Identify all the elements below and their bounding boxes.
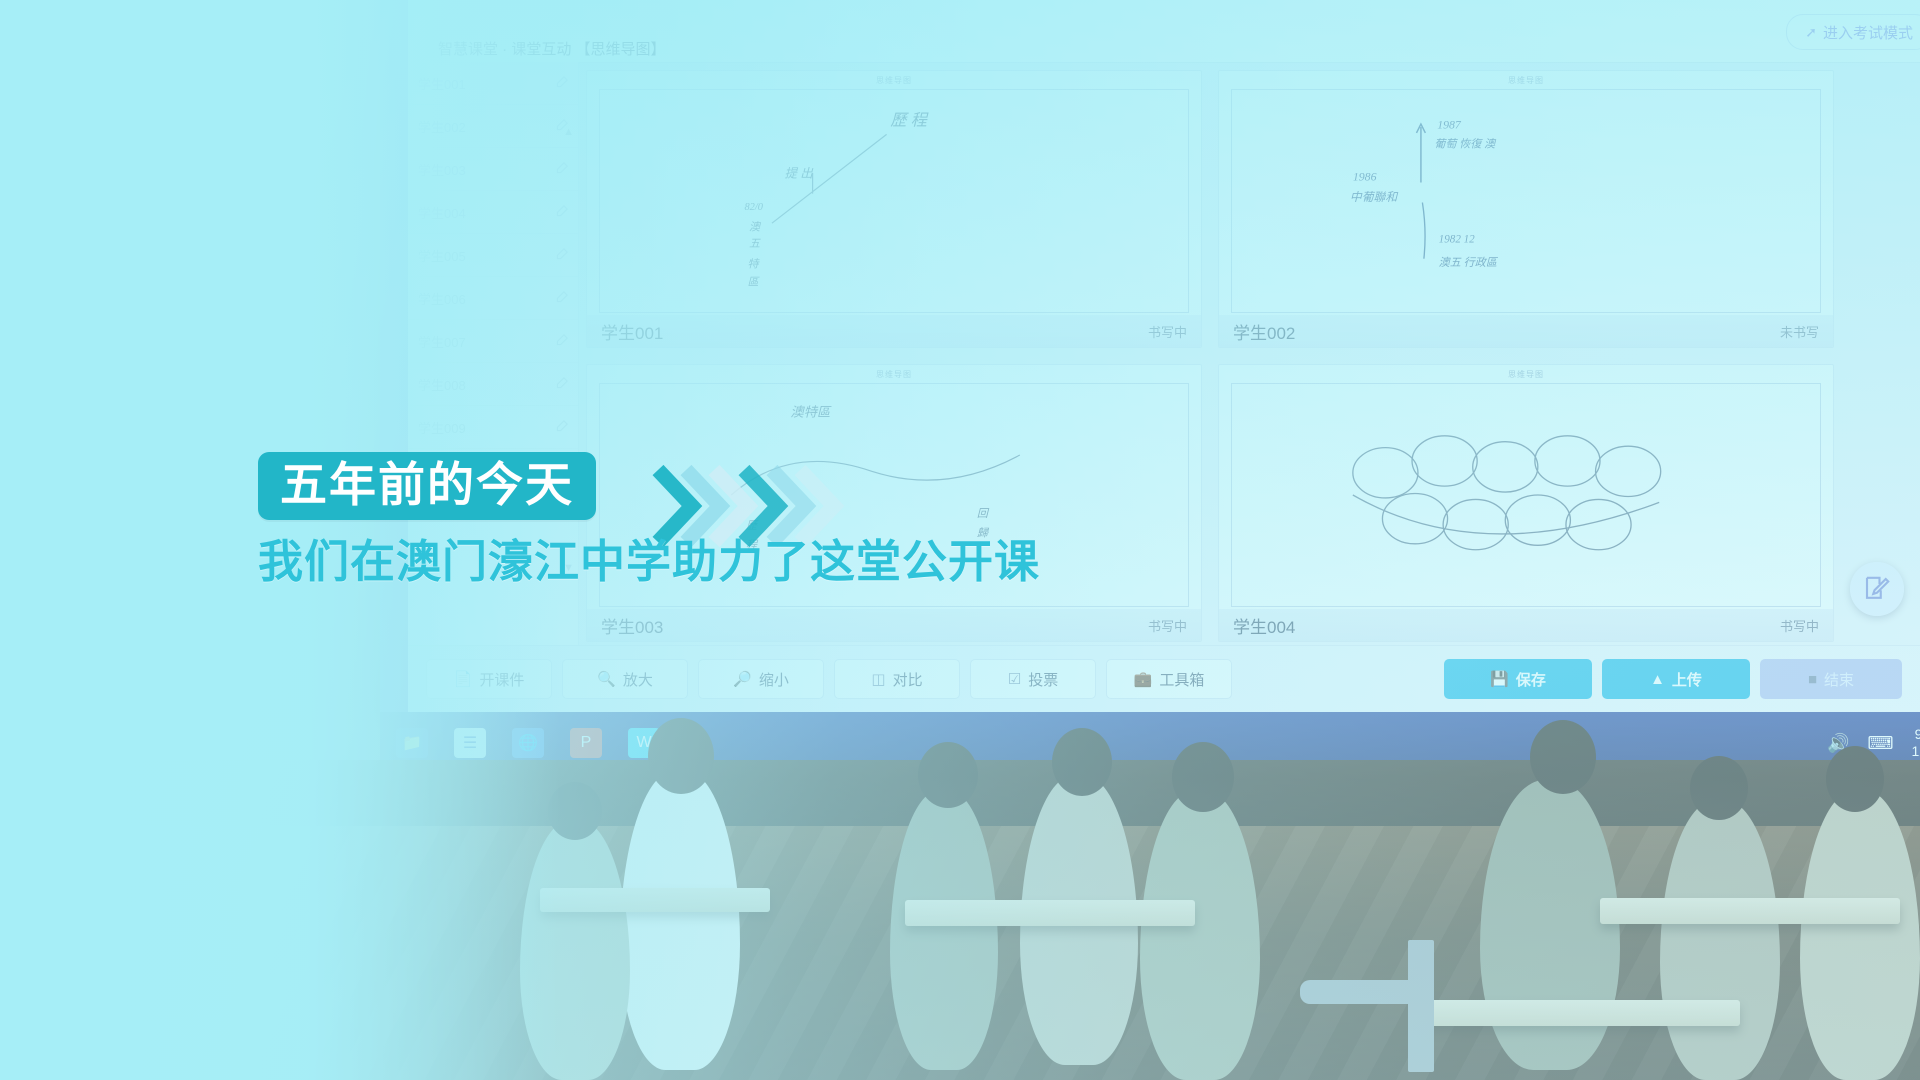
chair [1300, 980, 1420, 1004]
svg-text:澳五 行政區: 澳五 行政區 [1439, 256, 1499, 269]
vote-button[interactable]: ☑ 投票 [970, 659, 1096, 699]
zoom-out-icon: 🔎 [733, 670, 752, 688]
student-board[interactable]: 思维导图 [1218, 364, 1834, 642]
file-icon: 📄 [454, 670, 473, 688]
student-head [1826, 746, 1884, 812]
handwriting-canvas[interactable] [1231, 383, 1821, 607]
desk [905, 900, 1195, 926]
pencil-icon[interactable] [555, 291, 568, 304]
keyboard-icon[interactable]: ⌨ [1868, 733, 1894, 754]
list-item[interactable]: 学生008 [408, 363, 578, 406]
board-student-name: 学生002 [1233, 319, 1295, 344]
list-item[interactable]: 学生001 [408, 62, 578, 105]
board-footer: 学生004 书写中 [1219, 609, 1833, 641]
pencil-icon[interactable] [555, 76, 568, 89]
list-item-label: 学生006 [418, 289, 466, 308]
list-item[interactable]: 学生004 [408, 191, 578, 234]
enter-exam-mode-button[interactable]: ➚ 进入考试模式 [1786, 14, 1920, 50]
folder-icon[interactable]: 📁 [396, 728, 428, 758]
pencil-icon[interactable] [555, 420, 568, 433]
desk [1600, 898, 1900, 924]
browser-icon[interactable]: 🌐 [512, 728, 544, 758]
handwriting-canvas[interactable]: 歷 程 提 出 82/0 澳 五 特 區 [599, 89, 1189, 313]
handwriting-canvas[interactable]: 1987 葡萄 恢復 澳 1986 中葡聯和 1982 12 澳五 行政區 [1231, 89, 1821, 313]
board-student-name: 学生001 [601, 319, 663, 344]
student-figure [1140, 790, 1260, 1080]
svg-text:82/0: 82/0 [745, 202, 764, 213]
svg-text:歷 程: 歷 程 [890, 111, 928, 130]
board-tag: 思维导图 [1219, 75, 1833, 86]
stop-icon: ■ [1808, 671, 1817, 688]
zoom-out-label: 缩小 [759, 669, 789, 690]
upload-button[interactable]: ▲ 上传 [1602, 659, 1750, 699]
board-student-name: 学生003 [601, 613, 663, 638]
pencil-icon[interactable] [555, 162, 568, 175]
end-class-label: 结束 [1824, 669, 1854, 690]
list-item-label: 学生004 [418, 203, 466, 222]
student-figure [1800, 790, 1920, 1080]
save-icon: 💾 [1490, 670, 1509, 688]
upload-icon: ▲ [1650, 671, 1665, 688]
pencil-icon[interactable] [555, 119, 568, 132]
board-tag: 思维导图 [1219, 369, 1833, 380]
classroom-app-window: 智慧课堂 · 课堂互动 【思维导图】 ➚ 进入考试模式 ▲ 学生001 学生00… [408, 0, 1920, 712]
list-item[interactable]: 学生009 [408, 406, 578, 449]
list-item-label: 学生007 [418, 332, 466, 351]
zoom-in-button[interactable]: 🔍 放大 [562, 659, 688, 699]
board-status: 书写中 [1148, 616, 1187, 635]
student-figure [890, 790, 998, 1070]
taskbar-clock[interactable]: 9:33 AM 12/18/20 [1912, 726, 1920, 760]
board-tag: 思维导图 [587, 75, 1201, 86]
powerpoint-icon[interactable]: P [570, 728, 602, 758]
list-item-label: 学生009 [418, 418, 466, 437]
explorer-icon[interactable]: ☰ [454, 728, 486, 758]
list-item-label: 学生005 [418, 246, 466, 265]
board-tag: 思维导图 [587, 369, 1201, 380]
toolbox-button[interactable]: 💼 工具箱 [1106, 659, 1232, 699]
list-item[interactable]: 学生002 [408, 105, 578, 148]
list-item-label: 学生001 [418, 74, 466, 93]
toolbox-label: 工具箱 [1159, 669, 1204, 690]
list-item[interactable]: 学生005 [408, 234, 578, 277]
open-courseware-button[interactable]: 📄 开课件 [426, 659, 552, 699]
student-head [918, 742, 978, 808]
svg-text:澳特區: 澳特區 [790, 405, 832, 420]
zoom-out-button[interactable]: 🔎 缩小 [698, 659, 824, 699]
list-item[interactable]: 学生006 [408, 277, 578, 320]
handwriting-strokes: 1987 葡萄 恢復 澳 1986 中葡聯和 1982 12 澳五 行政區 [1232, 90, 1820, 312]
teacher-head [648, 718, 714, 794]
open-courseware-label: 开课件 [479, 669, 524, 690]
chair [1408, 940, 1434, 1072]
svg-text:提 出: 提 出 [784, 166, 814, 180]
zoom-in-icon: 🔍 [597, 670, 616, 688]
student-head [1530, 720, 1596, 794]
desk [540, 888, 770, 912]
app-bottom-toolbar: 📄 开课件 🔍 放大 🔎 缩小 ◫ 对比 ☑ 投票 [408, 645, 1920, 712]
vote-label: 投票 [1028, 669, 1058, 690]
student-head [1690, 756, 1748, 820]
app-title: 智慧课堂 · 课堂互动 【思维导图】 [438, 38, 666, 59]
enter-arrow-icon: ➚ [1805, 24, 1817, 41]
compare-icon: ◫ [871, 670, 885, 688]
svg-text:中葡聯和: 中葡聯和 [1350, 190, 1398, 204]
list-item-label: 学生003 [418, 160, 466, 179]
student-head [1172, 742, 1234, 812]
promo-subtitle: 我们在澳门濠江中学助力了这堂公开课 [258, 538, 1258, 585]
board-student-name: 学生004 [1233, 613, 1295, 638]
promo-badge: 五年前的今天 [258, 452, 596, 520]
svg-text:1986: 1986 [1353, 169, 1377, 183]
handwriting-strokes [1232, 384, 1820, 606]
compare-label: 对比 [893, 669, 923, 690]
list-item-label: 学生008 [418, 375, 466, 394]
svg-text:澳: 澳 [749, 221, 762, 234]
vote-icon: ☑ [1008, 670, 1021, 688]
student-board[interactable]: 思维导图 1987 葡萄 恢復 澳 1986 中葡聯和 1982 12 澳五 行… [1218, 70, 1834, 348]
pencil-icon[interactable] [555, 334, 568, 347]
pencil-icon[interactable] [555, 248, 568, 261]
list-item[interactable]: 学生003 [408, 148, 578, 191]
clock-date: 12/18/20 [1912, 743, 1920, 760]
upload-label: 上传 [1672, 669, 1702, 690]
svg-text:葡萄 恢復 澳: 葡萄 恢復 澳 [1434, 138, 1497, 151]
enter-exam-mode-label: 进入考试模式 [1823, 22, 1913, 43]
handwriting-strokes: 歷 程 提 出 82/0 澳 五 特 區 [600, 90, 1188, 312]
screenshot-root: 智慧课堂 · 课堂互动 【思维导图】 ➚ 进入考试模式 ▲ 学生001 学生00… [0, 0, 1920, 1080]
list-item[interactable]: 学生007 [408, 320, 578, 363]
promo-overlay: 五年前的今天 我们在澳门濠江中学助力了这堂公开课 [258, 452, 1258, 585]
clock-time: 9:33 AM [1912, 726, 1920, 743]
teacher-figure [620, 770, 740, 1070]
board-status: 未书写 [1780, 322, 1819, 341]
svg-text:1987: 1987 [1437, 117, 1462, 131]
board-footer: 学生002 未书写 [1219, 315, 1833, 347]
student-figure [1480, 780, 1620, 1070]
student-head [548, 782, 602, 840]
svg-text:特: 特 [747, 258, 760, 271]
list-item-label: 学生002 [418, 117, 466, 136]
student-head [1052, 728, 1112, 796]
toolbox-icon: 💼 [1134, 670, 1153, 688]
board-status: 书写中 [1148, 322, 1187, 341]
zoom-in-label: 放大 [623, 669, 653, 690]
note-pencil-icon [1862, 574, 1892, 604]
pencil-icon[interactable] [555, 205, 568, 218]
compare-button[interactable]: ◫ 对比 [834, 659, 960, 699]
desk [1420, 1000, 1740, 1026]
student-figure [520, 820, 630, 1080]
save-button[interactable]: 💾 保存 [1444, 659, 1592, 699]
board-status: 书写中 [1780, 616, 1819, 635]
svg-text:區: 區 [747, 276, 760, 288]
pencil-icon[interactable] [555, 377, 568, 390]
annotate-fab-button[interactable] [1850, 562, 1904, 616]
board-footer: 学生003 书写中 [587, 609, 1201, 641]
svg-text:五: 五 [749, 238, 761, 250]
save-label: 保存 [1516, 669, 1546, 690]
board-footer: 学生001 书写中 [587, 315, 1201, 347]
svg-text:1982 12: 1982 12 [1439, 233, 1476, 245]
end-class-button[interactable]: ■ 结束 [1760, 659, 1902, 699]
student-board[interactable]: 思维导图 歷 程 提 出 82/0 澳 五 特 區 [586, 70, 1202, 348]
student-figure [1660, 800, 1780, 1080]
